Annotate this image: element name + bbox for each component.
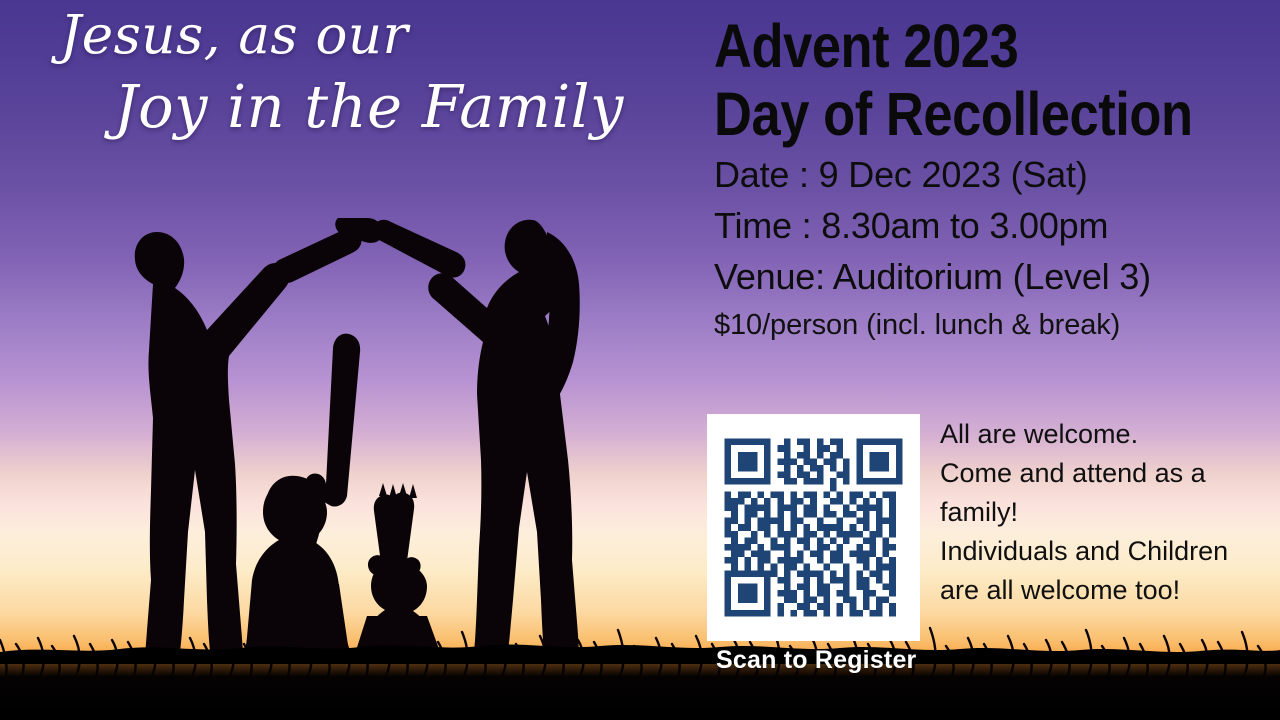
ground-band bbox=[0, 658, 1280, 720]
event-detail-date: Date : 9 Dec 2023 (Sat) bbox=[714, 149, 1274, 200]
welcome-text-block: All are welcome. Come and attend as a fa… bbox=[940, 415, 1270, 609]
event-title-line-1: Advent 2023 bbox=[714, 12, 1196, 80]
qr-code-panel[interactable] bbox=[707, 414, 920, 641]
welcome-line-4: Individuals and Children bbox=[940, 532, 1270, 571]
poster-canvas: Jesus, as our Joy in the Family Advent 2… bbox=[0, 0, 1280, 720]
event-detail-time: Time : 8.30am to 3.00pm bbox=[714, 200, 1274, 251]
scan-to-register-caption: Scan to Register bbox=[716, 646, 916, 675]
welcome-line-2: Come and attend as a bbox=[940, 454, 1270, 493]
event-price: $10/person (incl. lunch & break) bbox=[714, 306, 1274, 345]
welcome-line-1: All are welcome. bbox=[940, 415, 1270, 454]
qr-code[interactable] bbox=[718, 432, 909, 623]
family-silhouette-artwork bbox=[95, 160, 615, 680]
event-info-column: Advent 2023 Day of Recollection Date : 9… bbox=[714, 12, 1274, 345]
welcome-line-3: family! bbox=[940, 493, 1270, 532]
event-detail-venue: Venue: Auditorium (Level 3) bbox=[714, 251, 1274, 302]
welcome-line-5: are all welcome too! bbox=[940, 571, 1270, 610]
event-title-line-2: Day of Recollection bbox=[714, 80, 1196, 148]
